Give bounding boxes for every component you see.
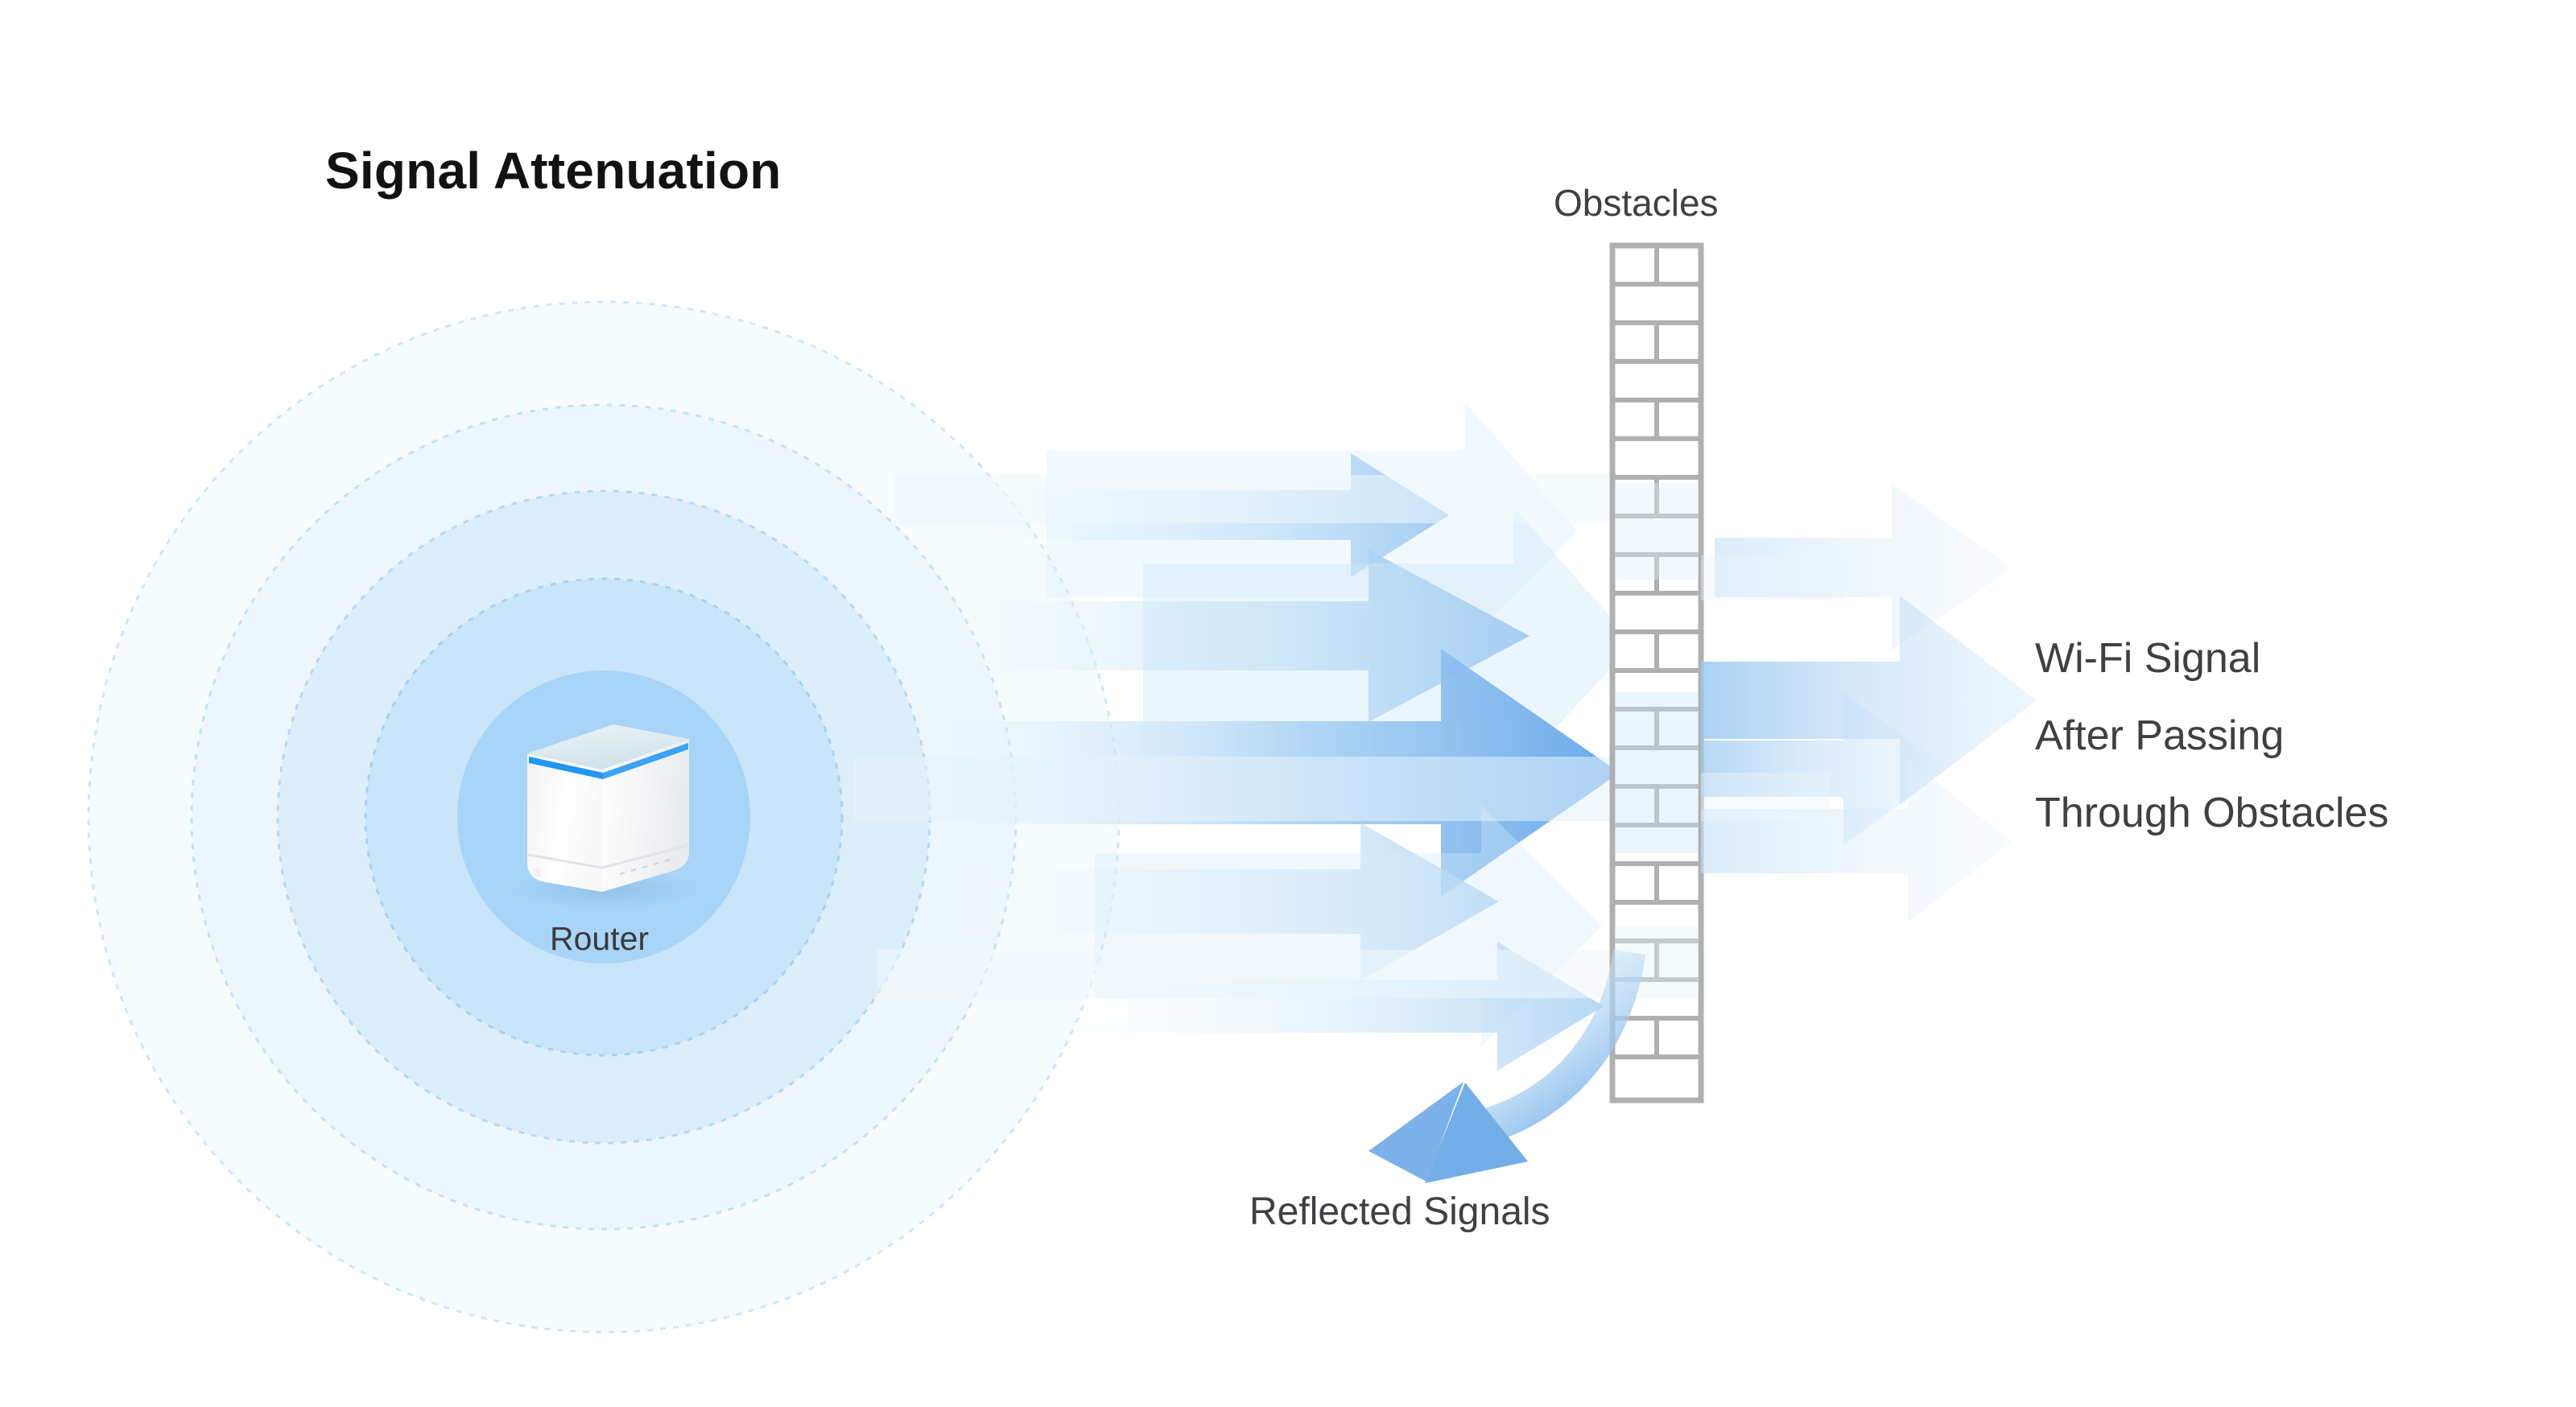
diagram-canvas: Signal Attenuation Obstacles Router Refl… [0, 0, 2576, 1407]
page-title: Signal Attenuation [325, 141, 782, 200]
router-device [509, 724, 702, 910]
outgoing-signal-arrows [1701, 485, 2037, 922]
wifi-label-line-3: Through Obstacles [2035, 774, 2388, 852]
incoming-signal-arrows [853, 402, 1707, 1071]
wifi-label-line-1: Wi-Fi Signal [2035, 620, 2388, 697]
obstacles-label: Obstacles [1554, 181, 1719, 225]
reflected-signals-label: Reflected Signals [1249, 1190, 1550, 1234]
router-label: Router [550, 920, 649, 958]
wifi-after-obstacles-label: Wi-Fi Signal After Passing Through Obsta… [2035, 620, 2388, 852]
wifi-label-line-2: After Passing [2035, 697, 2388, 774]
